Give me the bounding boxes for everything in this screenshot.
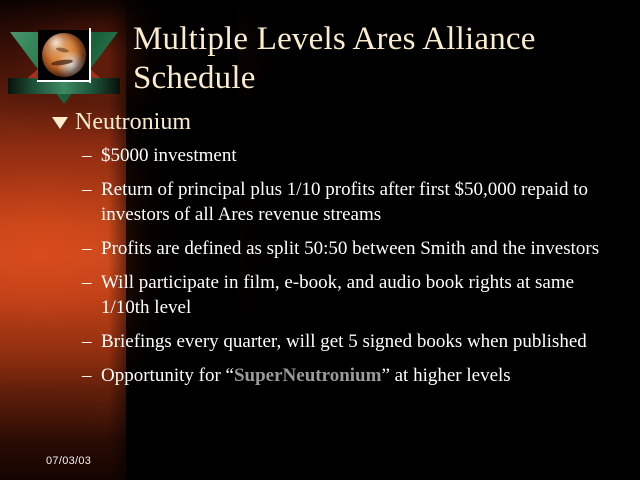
list-item-text: $5000 investment bbox=[101, 143, 237, 168]
list-item-text-after: ” at higher levels bbox=[381, 365, 510, 386]
mars-surface-marking bbox=[51, 58, 73, 66]
white-corner-line-horizontal bbox=[37, 80, 91, 82]
bullet-dash-icon: – bbox=[82, 329, 101, 354]
mars-planet-icon bbox=[42, 33, 86, 77]
bullet-dash-icon: – bbox=[82, 363, 101, 388]
list-item-text: Return of principal plus 1/10 profits af… bbox=[101, 177, 601, 227]
list-item: – Return of principal plus 1/10 profits … bbox=[82, 177, 632, 227]
presentation-slide: Multiple Levels Ares Alliance Schedule N… bbox=[0, 0, 640, 480]
ares-mars-logo bbox=[6, 16, 124, 120]
white-corner-line-vertical bbox=[89, 28, 91, 83]
section-heading-label: Neutronium bbox=[75, 108, 191, 136]
list-item-text: Opportunity for “SuperNeutronium” at hig… bbox=[101, 363, 511, 388]
list-item: – Briefings every quarter, will get 5 si… bbox=[82, 329, 632, 354]
slide-title: Multiple Levels Ares Alliance Schedule bbox=[133, 20, 631, 98]
list-item: – Opportunity for “SuperNeutronium” at h… bbox=[82, 363, 632, 388]
list-item: – Will participate in film, e-book, and … bbox=[82, 270, 632, 320]
mars-image-frame bbox=[38, 30, 90, 82]
mars-surface-marking bbox=[56, 47, 70, 54]
list-item-text: Will participate in film, e-book, and au… bbox=[101, 270, 601, 320]
bullet-list: – $5000 investment – Return of principal… bbox=[52, 143, 632, 388]
bullet-dash-icon: – bbox=[82, 177, 101, 202]
list-item-text: Profits are defined as split 50:50 betwe… bbox=[101, 236, 599, 261]
triangle-down-icon bbox=[52, 117, 68, 129]
list-item: – Profits are defined as split 50:50 bet… bbox=[82, 236, 632, 261]
list-item-text-before: Opportunity for “ bbox=[101, 365, 234, 386]
slide-body: Neutronium – $5000 investment – Return o… bbox=[52, 108, 632, 397]
list-item-emphasis: SuperNeutronium bbox=[234, 365, 381, 386]
bullet-dash-icon: – bbox=[82, 236, 101, 261]
list-item: – $5000 investment bbox=[82, 143, 632, 168]
list-item-text: Briefings every quarter, will get 5 sign… bbox=[101, 329, 587, 354]
slide-date: 07/03/03 bbox=[46, 455, 91, 467]
section-heading-row: Neutronium bbox=[52, 108, 632, 136]
bullet-dash-icon: – bbox=[82, 270, 101, 295]
bullet-dash-icon: – bbox=[82, 143, 101, 168]
